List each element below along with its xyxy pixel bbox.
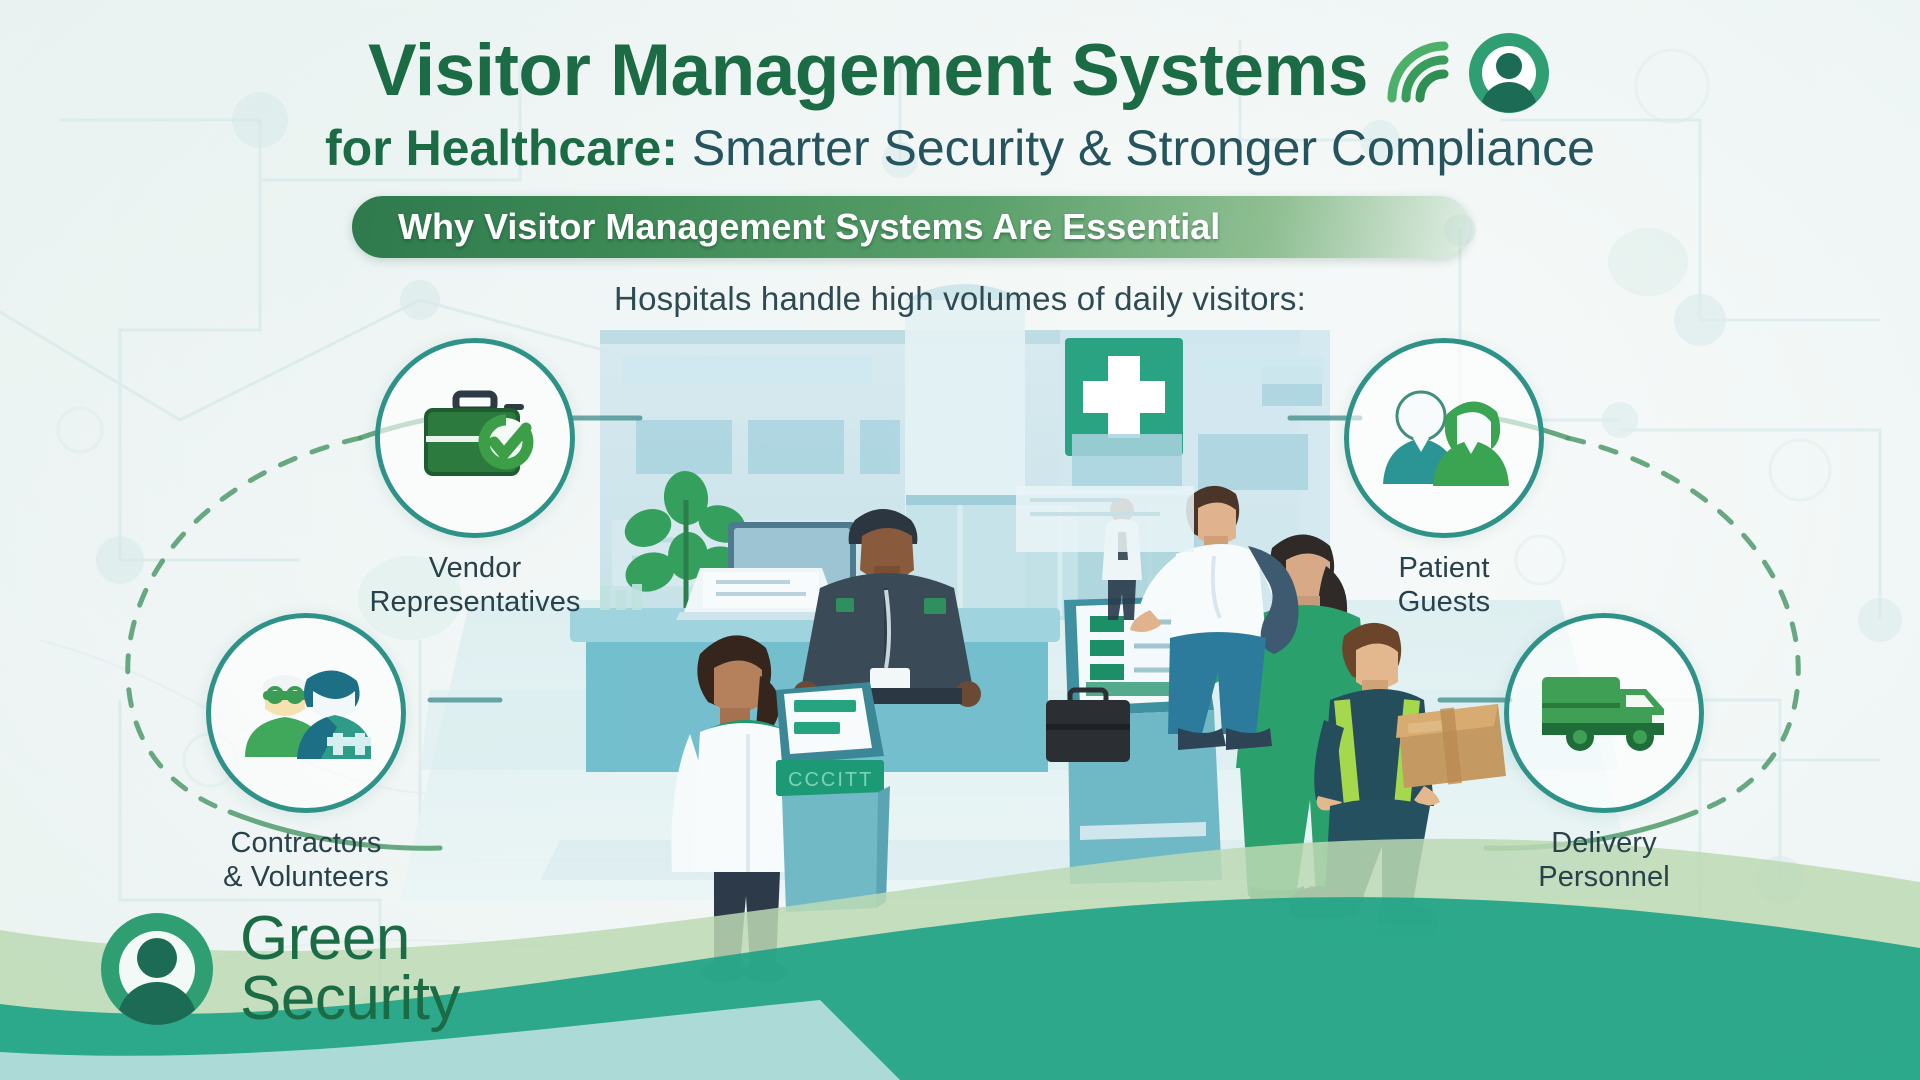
- page-subtitle: for Healthcare: Smarter Security & Stron…: [0, 120, 1920, 176]
- node-patient-guests[interactable]: Patient Guests: [1324, 338, 1564, 619]
- two-workers-icon: [241, 661, 371, 765]
- node-contractors-circle: [206, 613, 406, 813]
- section-banner-text: Why Visitor Management Systems Are Essen…: [398, 206, 1220, 248]
- page-title-text: Visitor Management Systems: [368, 33, 1368, 109]
- node-vendor-label: Vendor Representatives: [355, 552, 595, 619]
- green-security-person-icon: [96, 908, 218, 1030]
- delivery-truck-icon: [1536, 667, 1672, 759]
- person-badge-icon: [1466, 30, 1552, 116]
- wifi-signal-icon: [1382, 36, 1460, 110]
- node-vendor-circle: [375, 338, 575, 538]
- section-subtitle: Hospitals handle high volumes of daily v…: [0, 280, 1920, 318]
- node-delivery-personnel[interactable]: Delivery Personnel: [1484, 613, 1724, 894]
- node-contractors-volunteers[interactable]: Contractors & Volunteers: [186, 613, 426, 894]
- page-title: Visitor Management Systems: [368, 28, 1552, 114]
- brand-name-line2: Security: [240, 969, 460, 1029]
- node-delivery-label: Delivery Personnel: [1484, 827, 1724, 894]
- node-patient-circle: [1344, 338, 1544, 538]
- node-delivery-circle: [1504, 613, 1704, 813]
- section-banner: Why Visitor Management Systems Are Essen…: [352, 196, 1470, 258]
- brand-name: Green Security: [240, 909, 460, 1029]
- briefcase-check-icon: [414, 384, 536, 492]
- two-guests-icon: [1379, 386, 1509, 490]
- node-vendor-representatives[interactable]: Vendor Representatives: [355, 338, 595, 619]
- title-logo: [1382, 30, 1552, 116]
- node-patient-label: Patient Guests: [1324, 552, 1564, 619]
- brand-logo[interactable]: Green Security: [96, 908, 460, 1030]
- node-contractors-label: Contractors & Volunteers: [186, 827, 426, 894]
- brand-name-line1: Green: [240, 909, 460, 969]
- header: Visitor Management Systems fo: [0, 28, 1920, 176]
- page-subtitle-lead: for Healthcare:: [325, 120, 678, 176]
- infographic-canvas: CCCITT: [0, 0, 1920, 1080]
- page-subtitle-tail: Smarter Security & Stronger Compliance: [678, 120, 1595, 176]
